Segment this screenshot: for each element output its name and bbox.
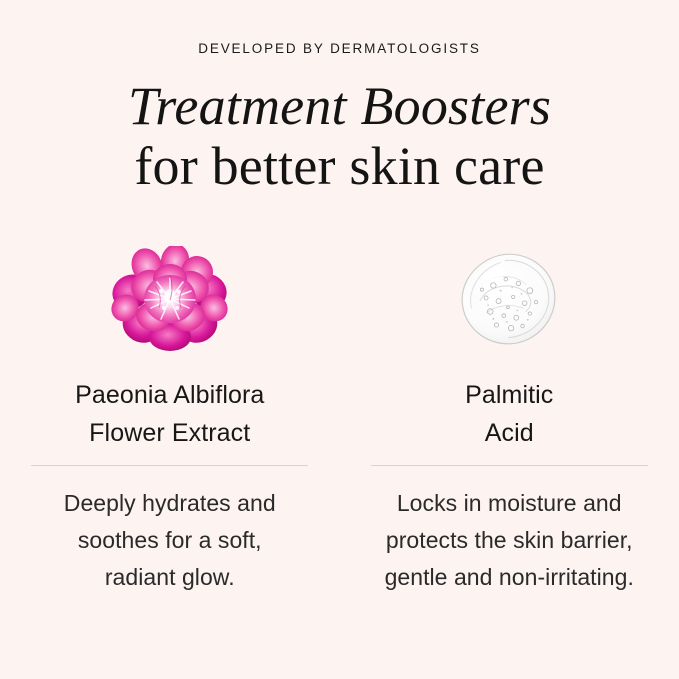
ingredient-desc-line-2: soothes for a soft, xyxy=(64,522,276,559)
page-title: Treatment Boosters for better skin care xyxy=(0,76,679,196)
peony-flower-icon xyxy=(111,246,229,352)
ingredient-title-peonia: Paeonia Albiflora Flower Extract xyxy=(75,376,264,452)
ingredient-desc-line-1: Deeply hydrates and xyxy=(64,485,276,522)
ingredient-title-line-2: Acid xyxy=(465,414,553,452)
ingredient-desc-line-2: protects the skin barrier, xyxy=(385,522,634,559)
ingredient-columns: Paeonia Albiflora Flower Extract Deeply … xyxy=(0,240,679,596)
ingredient-divider-peonia xyxy=(31,465,308,466)
ingredient-desc-line-1: Locks in moisture and xyxy=(385,485,634,522)
ingredient-title-line-1: Palmitic xyxy=(465,376,553,414)
ingredient-desc-line-3: radiant glow. xyxy=(64,559,276,596)
ingredient-column-peonia: Paeonia Albiflora Flower Extract Deeply … xyxy=(0,240,340,596)
headline-line-2: for better skin care xyxy=(0,136,679,196)
ingredient-divider-palmitic xyxy=(371,465,648,466)
gel-drop-icon xyxy=(459,251,559,347)
ingredient-desc-line-3: gentle and non-irritating. xyxy=(385,559,634,596)
ingredient-title-line-2: Flower Extract xyxy=(75,414,264,452)
ingredient-title-palmitic: Palmitic Acid xyxy=(465,376,553,452)
product-ingredient-infographic: DEVELOPED BY DERMATOLOGISTS Treatment Bo… xyxy=(0,0,679,679)
ingredient-title-line-1: Paeonia Albiflora xyxy=(75,376,264,414)
peony-flower-image xyxy=(90,240,250,358)
headline-line-1: Treatment Boosters xyxy=(0,76,679,136)
clear-gel-drop-image xyxy=(429,240,589,358)
eyebrow-text: DEVELOPED BY DERMATOLOGISTS xyxy=(0,40,679,58)
ingredient-description-peonia: Deeply hydrates and soothes for a soft, … xyxy=(64,485,276,596)
ingredient-description-palmitic: Locks in moisture and protects the skin … xyxy=(385,485,634,596)
ingredient-column-palmitic: Palmitic Acid Locks in moisture and prot… xyxy=(340,240,679,596)
